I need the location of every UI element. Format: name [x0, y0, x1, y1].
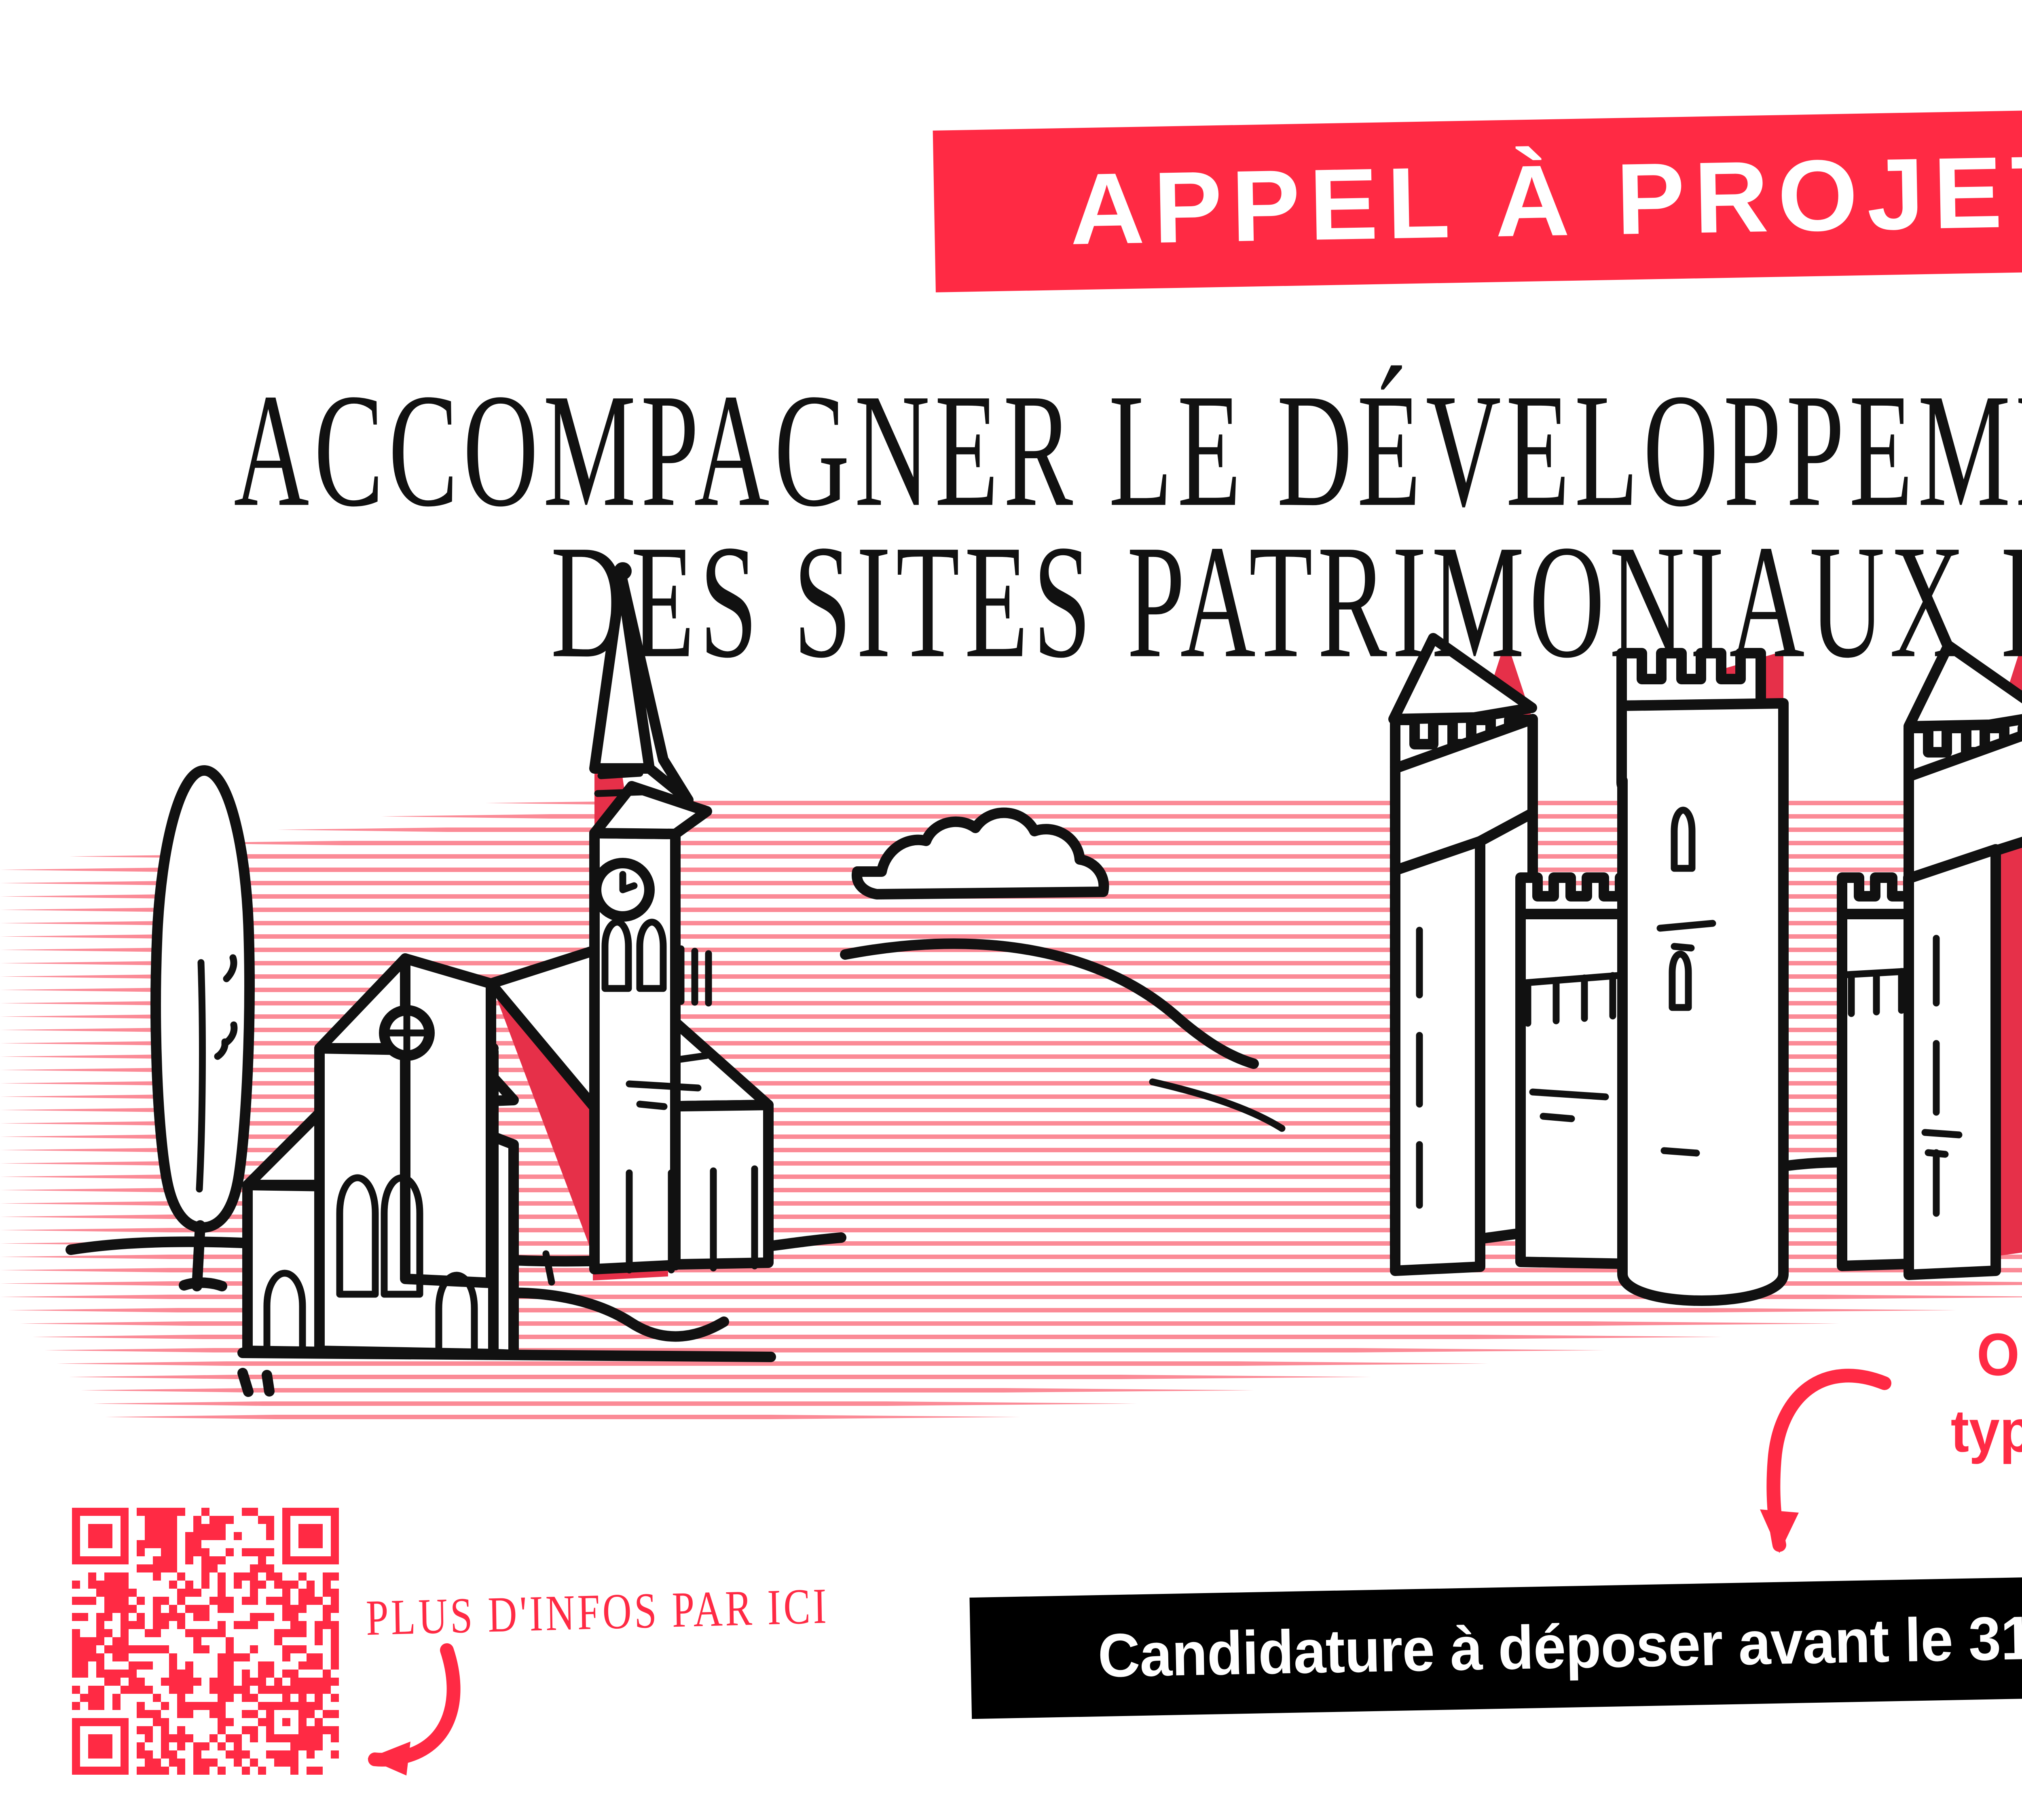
qr-module [121, 1670, 129, 1678]
qr-module [307, 1597, 315, 1605]
qr-module [121, 1767, 129, 1775]
qr-module [129, 1605, 137, 1613]
stripe [0, 1014, 2022, 1019]
qr-module [331, 1645, 339, 1653]
qr-module [234, 1734, 242, 1742]
qr-module [153, 1694, 161, 1702]
qr-module [72, 1759, 80, 1767]
qr-module [331, 1597, 339, 1605]
curved-arrow-down-left-icon [1751, 1367, 1897, 1561]
qr-module [177, 1767, 185, 1775]
stripe [277, 827, 2022, 832]
qr-module [290, 1508, 298, 1516]
qr-module [145, 1734, 153, 1742]
qr-module [266, 1572, 274, 1581]
qr-module [112, 1637, 121, 1645]
qr-module [145, 1767, 153, 1775]
qr-module [72, 1581, 80, 1589]
qr-module [226, 1686, 234, 1694]
qr-module [234, 1572, 242, 1581]
qr-module [258, 1516, 266, 1524]
qr-module [331, 1661, 339, 1670]
qr-module [121, 1750, 129, 1759]
qr-module [323, 1686, 331, 1694]
qr-module [104, 1572, 112, 1581]
qr-module [201, 1759, 209, 1767]
qr-module [274, 1629, 282, 1637]
qr-module [72, 1670, 80, 1678]
qr-module [153, 1621, 161, 1629]
qr-module [169, 1564, 177, 1572]
qr-module [88, 1653, 96, 1661]
qr-module [234, 1686, 242, 1694]
stripe [0, 881, 2022, 885]
qr-module [121, 1581, 129, 1589]
qr-module [209, 1597, 218, 1605]
qr-module [72, 1767, 80, 1775]
stripe [81, 1388, 1254, 1393]
qr-module [274, 1678, 282, 1686]
callout-line-1: Ouvert à tous [1951, 1316, 2022, 1393]
stripe [173, 841, 2022, 845]
qr-module [242, 1670, 250, 1678]
cypress-tree [156, 770, 250, 1286]
qr-module [80, 1718, 88, 1726]
qr-module [169, 1613, 177, 1621]
qr-module [112, 1653, 121, 1661]
qr-module [331, 1629, 339, 1637]
grass-tufts [546, 942, 2022, 1282]
qr-module [121, 1742, 129, 1750]
qr-module [290, 1702, 298, 1710]
qr-module [145, 1726, 153, 1734]
qr-module [315, 1629, 323, 1637]
qr-module [274, 1686, 282, 1694]
qr-module [266, 1597, 274, 1605]
qr-module [161, 1556, 169, 1564]
qr-module [80, 1597, 88, 1605]
qr-module [218, 1694, 226, 1702]
qr-module [137, 1750, 145, 1759]
qr-module [315, 1532, 323, 1540]
qr-module [201, 1767, 209, 1775]
qr-module [177, 1686, 185, 1694]
qr-module [290, 1621, 298, 1629]
qr-module [226, 1718, 234, 1726]
deadline-banner: Candidature à déposer avant le 31 juille… [969, 1572, 2022, 1719]
qr-module [282, 1694, 290, 1702]
qr-module [266, 1516, 274, 1524]
qr-module [72, 1540, 80, 1548]
qr-module [298, 1629, 307, 1637]
stripe [0, 1121, 2022, 1126]
qr-module [80, 1645, 88, 1653]
qr-module [72, 1629, 80, 1637]
qr-module [298, 1532, 307, 1540]
qr-module [234, 1653, 242, 1661]
qr-module [96, 1702, 104, 1710]
qr-module [121, 1597, 129, 1605]
qr-module [96, 1653, 104, 1661]
qr-module [290, 1686, 298, 1694]
qr-module [266, 1718, 274, 1726]
qr-module [185, 1556, 193, 1564]
qr-module [193, 1540, 201, 1548]
qr-module [331, 1653, 339, 1661]
qr-module [315, 1524, 323, 1532]
qr-module [137, 1702, 145, 1710]
qr-module [185, 1710, 193, 1718]
qr-module [242, 1726, 250, 1734]
stripe [0, 1161, 2022, 1166]
qr-module [193, 1532, 201, 1540]
qr-module [274, 1759, 282, 1767]
qr-module [250, 1508, 258, 1516]
stripe [93, 1401, 1137, 1406]
qr-module [315, 1597, 323, 1605]
stripe [0, 894, 2022, 899]
qr-module [290, 1670, 298, 1678]
qr-module [137, 1726, 145, 1734]
qr-module [96, 1750, 104, 1759]
qr-module [169, 1540, 177, 1548]
qr-module [209, 1629, 218, 1637]
stripe [0, 868, 2022, 872]
qr-module [161, 1564, 169, 1572]
qr-module [258, 1613, 266, 1621]
qr-module [137, 1645, 145, 1653]
qr-module [290, 1613, 298, 1621]
qr-module [298, 1524, 307, 1532]
qr-module [250, 1581, 258, 1589]
qr-module [274, 1597, 282, 1605]
qr-module [250, 1621, 258, 1629]
qr-module [96, 1613, 104, 1621]
qr-module [121, 1686, 129, 1694]
qr-module [104, 1750, 112, 1759]
qr-module [290, 1556, 298, 1564]
qr-module [209, 1564, 218, 1572]
qr-module [137, 1686, 145, 1694]
qr-module [72, 1686, 80, 1694]
page-title: ACCOMPAGNER LE DÉVELOPPEMENT TOURISTIQUE… [0, 364, 2022, 643]
qr-code[interactable] [72, 1508, 339, 1775]
stripe [44, 1348, 1605, 1352]
qr-module [282, 1548, 290, 1556]
qr-module [72, 1556, 80, 1564]
qr-module [323, 1710, 331, 1718]
qr-module [145, 1645, 153, 1653]
qr-module [315, 1718, 323, 1726]
qr-module [96, 1581, 104, 1589]
qr-module [88, 1645, 96, 1653]
qr-module [201, 1524, 209, 1532]
qr-module [153, 1572, 161, 1581]
qr-module [323, 1589, 331, 1597]
qr-module [169, 1661, 177, 1670]
qr-module [104, 1556, 112, 1564]
callout-line-2: types de profils [1951, 1393, 2022, 1469]
qr-module [218, 1597, 226, 1605]
qr-module [193, 1524, 201, 1532]
qr-module [282, 1605, 290, 1613]
qr-module [161, 1718, 169, 1726]
qr-module [129, 1589, 137, 1597]
qr-module [298, 1678, 307, 1686]
qr-module [72, 1726, 80, 1734]
qr-module [258, 1548, 266, 1556]
qr-module [266, 1564, 274, 1572]
qr-module [153, 1564, 161, 1572]
qr-module [88, 1637, 96, 1645]
qr-module [96, 1767, 104, 1775]
qr-module [290, 1767, 298, 1775]
qr-module [298, 1605, 307, 1613]
stripe [0, 908, 2022, 912]
qr-module [282, 1670, 290, 1678]
qr-module [88, 1718, 96, 1726]
qr-module [121, 1759, 129, 1767]
qr-module [104, 1767, 112, 1775]
qr-module [307, 1767, 315, 1775]
qr-module [307, 1750, 315, 1759]
qr-module [145, 1661, 153, 1670]
qr-module [137, 1540, 145, 1548]
qr-module [153, 1556, 161, 1564]
qr-module [315, 1621, 323, 1629]
qr-module [331, 1621, 339, 1629]
qr-module [307, 1653, 315, 1661]
qr-module [104, 1589, 112, 1597]
qr-module [226, 1678, 234, 1686]
qr-module [258, 1670, 266, 1678]
qr-module [88, 1508, 96, 1516]
stripe [381, 814, 2022, 819]
qr-module [258, 1718, 266, 1726]
qr-module [104, 1629, 112, 1637]
qr-module [218, 1661, 226, 1670]
qr-module [290, 1678, 298, 1686]
qr-module [315, 1508, 323, 1516]
qr-module [307, 1524, 315, 1532]
qr-module [323, 1508, 331, 1516]
qr-module [242, 1767, 250, 1775]
qr-module [121, 1718, 129, 1726]
qr-module [307, 1540, 315, 1548]
qr-module [290, 1759, 298, 1767]
qr-module [282, 1629, 290, 1637]
qr-module [161, 1613, 169, 1621]
qr-module [161, 1621, 169, 1629]
qr-module [145, 1710, 153, 1718]
qr-module [161, 1524, 169, 1532]
qr-module [307, 1581, 315, 1589]
qr-module [307, 1589, 315, 1597]
qr-module [331, 1694, 339, 1702]
qr-module [104, 1540, 112, 1548]
qr-module [161, 1742, 169, 1750]
qr-module [121, 1572, 129, 1581]
stripe [0, 1108, 2022, 1112]
headline-line-1: ACCOMPAGNER LE DÉVELOPPEMENT TOURISTIQUE [226, 364, 2022, 536]
qr-module [96, 1694, 104, 1702]
qr-module [96, 1540, 104, 1548]
stripe [0, 974, 2022, 979]
qr-module [193, 1613, 201, 1621]
qr-module [104, 1670, 112, 1678]
qr-module [323, 1670, 331, 1678]
qr-module [266, 1661, 274, 1670]
qr-module [161, 1516, 169, 1524]
qr-module [290, 1629, 298, 1637]
stripe [0, 1295, 2022, 1299]
qr-module [298, 1718, 307, 1726]
qr-module [80, 1694, 88, 1702]
qr-module [193, 1645, 201, 1653]
qr-module [298, 1734, 307, 1742]
qr-module [234, 1742, 242, 1750]
qr-module [169, 1516, 177, 1524]
qr-module [323, 1726, 331, 1734]
qr-module [185, 1605, 193, 1613]
stripe [0, 1241, 2022, 1246]
qr-module [331, 1726, 339, 1734]
qr-module [137, 1508, 145, 1516]
qr-module [104, 1524, 112, 1532]
qr-module [96, 1661, 104, 1670]
qr-module [153, 1645, 161, 1653]
qr-module [201, 1581, 209, 1589]
qr-module [282, 1750, 290, 1759]
qr-module [218, 1686, 226, 1694]
stripe [0, 1148, 2022, 1152]
qr-module [315, 1637, 323, 1645]
qr-module [112, 1694, 121, 1702]
qr-module [193, 1767, 201, 1775]
qr-module [161, 1767, 169, 1775]
qr-module [258, 1678, 266, 1686]
stripe [0, 921, 2022, 925]
qr-module [193, 1516, 201, 1524]
qr-module [96, 1532, 104, 1540]
qr-module [331, 1540, 339, 1548]
qr-module [298, 1694, 307, 1702]
qr-module [193, 1629, 201, 1637]
qr-module [315, 1726, 323, 1734]
qr-module [112, 1767, 121, 1775]
stripe [0, 1255, 2022, 1259]
qr-module [185, 1670, 193, 1678]
qr-module [315, 1678, 323, 1686]
qr-module [290, 1750, 298, 1759]
qr-module [250, 1734, 258, 1742]
qr-module [290, 1734, 298, 1742]
qr-module [145, 1516, 153, 1524]
qr-module [137, 1661, 145, 1670]
stripe [0, 961, 2022, 965]
qr-module [169, 1734, 177, 1742]
qr-module [96, 1637, 104, 1645]
qr-module [185, 1686, 193, 1694]
qr-module [161, 1734, 169, 1742]
qr-module [242, 1548, 250, 1556]
qr-module [307, 1661, 315, 1670]
qr-module [218, 1532, 226, 1540]
qr-module [72, 1645, 80, 1653]
qr-module [129, 1678, 137, 1686]
qr-module [298, 1686, 307, 1694]
qr-module [185, 1629, 193, 1637]
qr-module [298, 1508, 307, 1516]
qr-module [80, 1508, 88, 1516]
qr-module [72, 1516, 80, 1524]
qr-module [96, 1589, 104, 1597]
qr-module [315, 1540, 323, 1548]
stripe [0, 948, 2022, 952]
qr-module [250, 1645, 258, 1653]
qr-module [145, 1750, 153, 1759]
stripe [0, 1054, 2022, 1059]
qr-module [153, 1629, 161, 1637]
qr-module [298, 1540, 307, 1548]
rolling-hills [71, 910, 2022, 1392]
qr-module [258, 1581, 266, 1589]
qr-module [201, 1548, 209, 1556]
qr-module [145, 1686, 153, 1694]
qr-module [258, 1556, 266, 1564]
qr-module [112, 1589, 121, 1597]
qr-module [242, 1508, 250, 1516]
qr-module [282, 1581, 290, 1589]
qr-code-label: PLUS D'INFOS PAR ICI [366, 1577, 829, 1647]
qr-module [145, 1759, 153, 1767]
qr-module [218, 1589, 226, 1597]
qr-module [96, 1718, 104, 1726]
qr-module [96, 1621, 104, 1629]
qr-module [185, 1661, 193, 1670]
qr-module [226, 1645, 234, 1653]
qr-module [266, 1613, 274, 1621]
qr-module [258, 1767, 266, 1775]
qr-module [331, 1605, 339, 1613]
qr-module [88, 1540, 96, 1548]
qr-module [315, 1734, 323, 1742]
qr-module [112, 1645, 121, 1653]
banner-kicker-label: APPEL À PROJETS [1069, 131, 2022, 267]
qr-module [331, 1710, 339, 1718]
qr-module [80, 1653, 88, 1661]
qr-module [161, 1750, 169, 1759]
stripe [105, 1415, 1020, 1419]
qr-module [242, 1621, 250, 1629]
qr-module [121, 1629, 129, 1637]
qr-module [96, 1629, 104, 1637]
qr-module [218, 1629, 226, 1637]
qr-module [121, 1637, 129, 1645]
qr-module [323, 1572, 331, 1581]
qr-module [88, 1686, 96, 1694]
qr-module [161, 1508, 169, 1516]
stripe [0, 1094, 2022, 1099]
qr-module [153, 1759, 161, 1767]
qr-module [153, 1524, 161, 1532]
qr-module [307, 1742, 315, 1750]
qr-module [153, 1516, 161, 1524]
qr-module [226, 1734, 234, 1742]
qr-module [258, 1661, 266, 1670]
qr-module [177, 1742, 185, 1750]
qr-module [96, 1524, 104, 1532]
